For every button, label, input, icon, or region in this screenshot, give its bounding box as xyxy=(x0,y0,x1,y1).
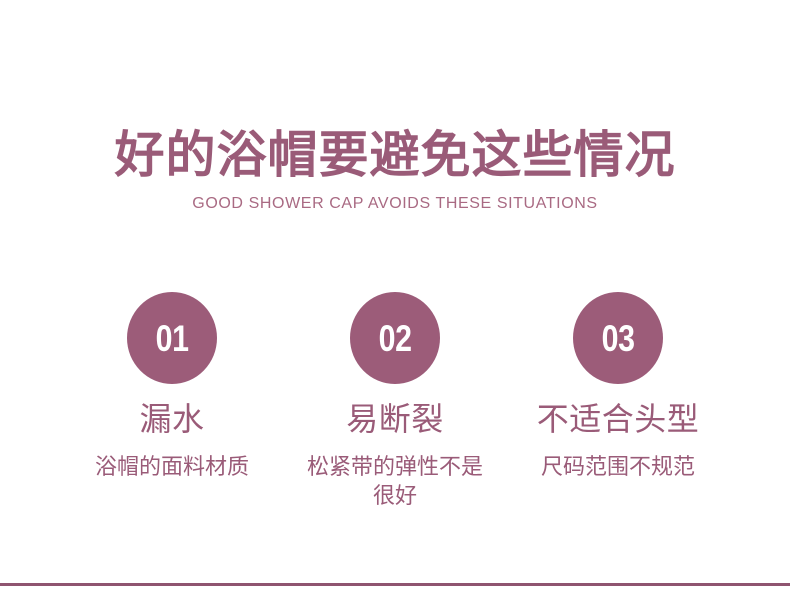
badge-number-label: 03 xyxy=(602,320,635,357)
feature-column-01: 01 漏水 浴帽的面料材质 xyxy=(61,292,284,481)
feature-column-02: 02 易断裂 松紧带的弹性不是很好 xyxy=(284,292,507,510)
number-badge-01: 01 xyxy=(127,292,217,384)
page-subtitle: GOOD SHOWER CAP AVOIDS THESE SITUATIONS xyxy=(0,194,790,214)
product-info-banner: 好的浴帽要避免这些情况 GOOD SHOWER CAP AVOIDS THESE… xyxy=(0,0,790,589)
feature-title-03: 不适合头型 xyxy=(537,400,700,438)
badge-number-label: 02 xyxy=(379,320,412,357)
feature-title-02: 易断裂 xyxy=(346,400,444,438)
feature-description-03: 尺码范围不规范 xyxy=(541,452,695,481)
feature-title-01: 漏水 xyxy=(139,400,204,438)
feature-description-02: 松紧带的弹性不是很好 xyxy=(306,452,484,510)
number-badge-03: 03 xyxy=(573,292,663,384)
feature-columns: 01 漏水 浴帽的面料材质 02 易断裂 松紧带的弹性不是很好 03 不适合头型… xyxy=(0,292,790,510)
feature-column-03: 03 不适合头型 尺码范围不规范 xyxy=(507,292,730,481)
banner-header: 好的浴帽要避免这些情况 GOOD SHOWER CAP AVOIDS THESE… xyxy=(0,126,790,214)
bottom-divider xyxy=(0,583,790,586)
number-badge-02: 02 xyxy=(350,292,440,384)
feature-description-01: 浴帽的面料材质 xyxy=(95,452,249,481)
page-title: 好的浴帽要避免这些情况 xyxy=(0,126,790,184)
badge-number-label: 01 xyxy=(156,320,189,357)
